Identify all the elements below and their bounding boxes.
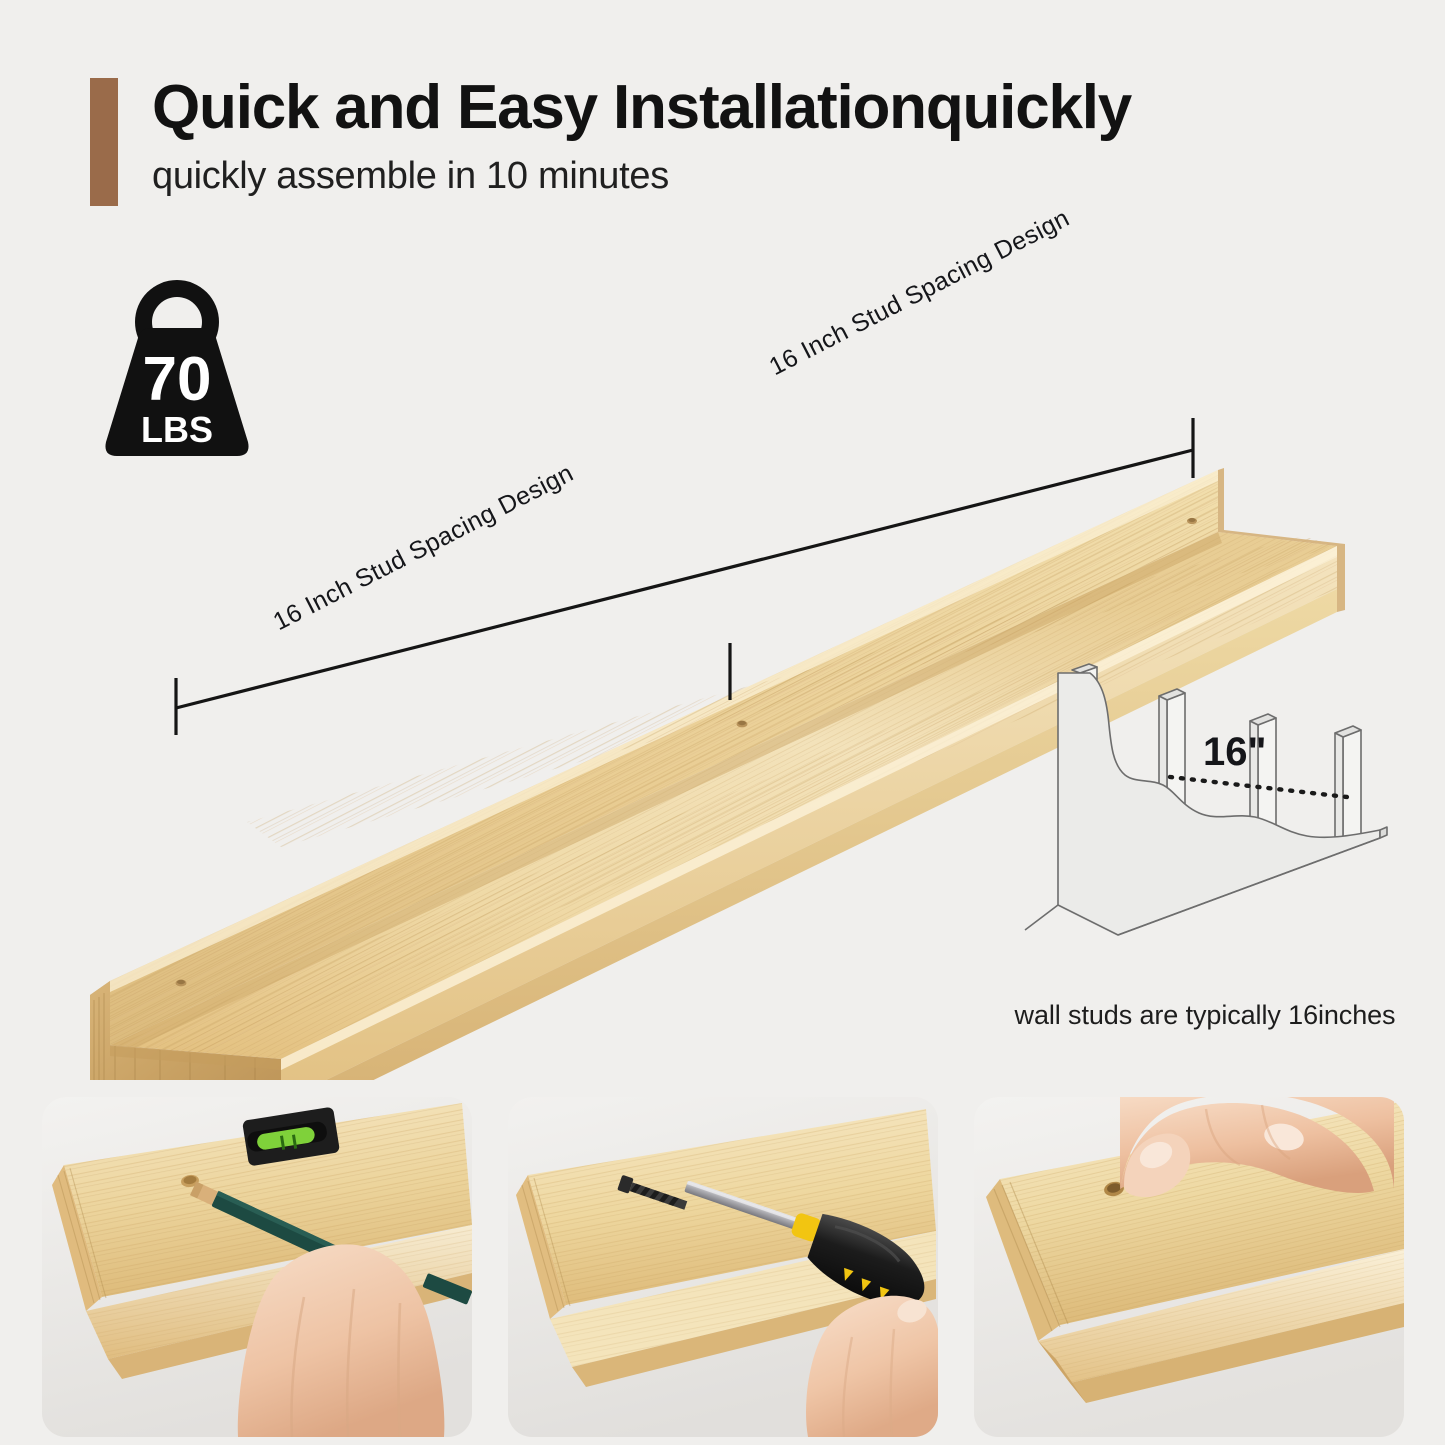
stud-diagram-caption: wall studs are typically 16inches [990,1000,1420,1031]
wall-stud [1335,726,1361,850]
step-photo-drive-screw [508,1097,938,1437]
header: Quick and Easy Installationquickly quick… [0,0,1445,215]
accent-bar [90,78,118,206]
step-photo-mark-with-pencil [42,1097,472,1437]
installation-steps-gallery [0,1097,1445,1445]
page-title: Quick and Easy Installationquickly [152,72,1131,143]
stud-spacing-measure: 16" [1203,730,1266,774]
drywall-panel [1058,673,1380,935]
page-subtitle: quickly assemble in 10 minutes [152,155,669,198]
step-photo-mount-shelf [974,1097,1404,1437]
wall-stud-diagram: 16" [985,625,1405,975]
